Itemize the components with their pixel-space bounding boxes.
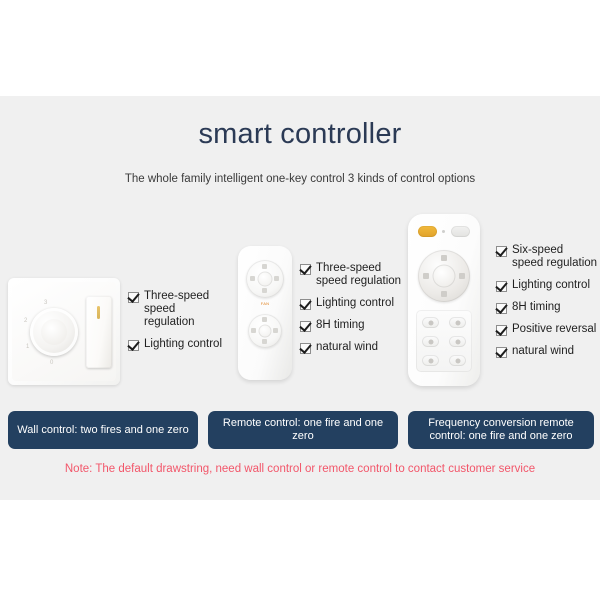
feature-list-frequency-conversion: Six-speed speed regulationLighting contr… xyxy=(496,244,600,367)
brightness-down-button[interactable] xyxy=(449,317,466,328)
feature-item: natural wind xyxy=(300,341,410,354)
mode-button[interactable] xyxy=(451,226,470,237)
feature-item: Three-speed speed regulation xyxy=(128,290,228,329)
remote-light-keypad[interactable] xyxy=(248,314,282,348)
feature-label: Three-speed speed regulation xyxy=(316,262,401,288)
timer-1h-button[interactable] xyxy=(422,355,439,366)
feature-label: Six-speed speed regulation xyxy=(512,244,597,270)
product-image-wall-switch: 3 2 1 0 xyxy=(8,278,120,385)
keypad-right-button[interactable] xyxy=(274,276,279,281)
caption-bar-remote-control: Remote control: one fire and one zero xyxy=(208,411,398,449)
direction-wheel[interactable] xyxy=(418,250,470,302)
feature-item: Lighting control xyxy=(496,279,600,292)
checkmark-icon xyxy=(300,343,311,354)
checkmark-icon xyxy=(300,321,311,332)
wall-switch-light-rocker[interactable] xyxy=(86,296,112,368)
keypad-left-button[interactable] xyxy=(250,276,255,281)
checkmark-icon xyxy=(300,299,311,310)
light-keypad-up-button[interactable] xyxy=(262,317,267,322)
feature-item: 8H timing xyxy=(300,319,410,332)
light-keypad-right-button[interactable] xyxy=(273,328,278,333)
feature-list-wall-control: Three-speed speed regulationLighting con… xyxy=(128,290,228,360)
feature-item: Lighting control xyxy=(128,338,228,351)
power-button[interactable] xyxy=(418,226,437,237)
light-keypad-left-button[interactable] xyxy=(251,328,256,333)
feature-item: 8H timing xyxy=(496,301,600,314)
light-keypad-down-button[interactable] xyxy=(262,339,267,344)
footer-note: Note: The default drawstring, need wall … xyxy=(0,463,600,475)
feature-label: 8H timing xyxy=(512,301,561,314)
product-image-frequency-conversion-remote xyxy=(408,214,480,386)
knob-tick-mark: 2 xyxy=(24,318,30,324)
feature-item: Positive reversal xyxy=(496,323,600,336)
wheel-center-button[interactable] xyxy=(433,265,456,288)
timer-8h-button[interactable] xyxy=(449,355,466,366)
page-title: smart controller xyxy=(0,118,600,151)
indicator-led xyxy=(442,230,445,233)
checkmark-icon xyxy=(128,340,139,351)
keypad-center-button[interactable] xyxy=(258,272,273,287)
checkmark-icon xyxy=(496,246,507,257)
feature-label: Lighting control xyxy=(512,279,590,292)
caption-bar-wall-control: Wall control: two fires and one zero xyxy=(8,411,198,449)
function-button-panel xyxy=(416,310,472,372)
feature-item: Lighting control xyxy=(300,297,410,310)
caption-bar-frequency-conversion: Frequency conversion remote control: one… xyxy=(408,411,594,449)
remote-brand-text: FAN xyxy=(238,301,292,306)
brightness-up-button[interactable] xyxy=(422,317,439,328)
checkmark-icon xyxy=(496,347,507,358)
feature-list-remote-control: Three-speed speed regulationLighting con… xyxy=(300,262,410,363)
feature-label: Lighting control xyxy=(316,297,394,310)
feature-label: 8H timing xyxy=(316,319,365,332)
feature-label: natural wind xyxy=(316,341,378,354)
wall-switch-rotary-knob[interactable] xyxy=(30,308,78,356)
checkmark-icon xyxy=(496,325,507,336)
checkmark-icon xyxy=(496,303,507,314)
light-keypad-center-button[interactable] xyxy=(259,325,272,338)
keypad-up-button[interactable] xyxy=(262,264,267,269)
feature-label: Positive reversal xyxy=(512,323,596,336)
checkmark-icon xyxy=(496,281,507,292)
forward-button[interactable] xyxy=(449,336,466,347)
knob-tick-mark: 1 xyxy=(26,344,32,350)
feature-item: Three-speed speed regulation xyxy=(300,262,410,288)
wheel-left-button[interactable] xyxy=(423,273,429,279)
keypad-down-button[interactable] xyxy=(262,288,267,293)
remote-fan-keypad[interactable] xyxy=(246,260,284,298)
product-image-remote: FAN xyxy=(238,246,292,380)
wheel-right-button[interactable] xyxy=(459,273,465,279)
wheel-down-button[interactable] xyxy=(441,291,447,297)
reverse-button[interactable] xyxy=(422,336,439,347)
knob-tick-mark: 0 xyxy=(50,360,56,366)
feature-item: natural wind xyxy=(496,345,600,358)
feature-label: natural wind xyxy=(512,345,574,358)
checkmark-icon xyxy=(300,264,311,275)
infographic-root: smart controller The whole family intell… xyxy=(0,0,600,600)
feature-label: Three-speed speed regulation xyxy=(144,290,228,329)
checkmark-icon xyxy=(128,292,139,303)
page-subtitle: The whole family intelligent one-key con… xyxy=(0,173,600,185)
wheel-up-button[interactable] xyxy=(441,255,447,261)
feature-label: Lighting control xyxy=(144,338,222,351)
feature-item: Six-speed speed regulation xyxy=(496,244,600,270)
knob-tick-mark: 3 xyxy=(44,300,50,306)
